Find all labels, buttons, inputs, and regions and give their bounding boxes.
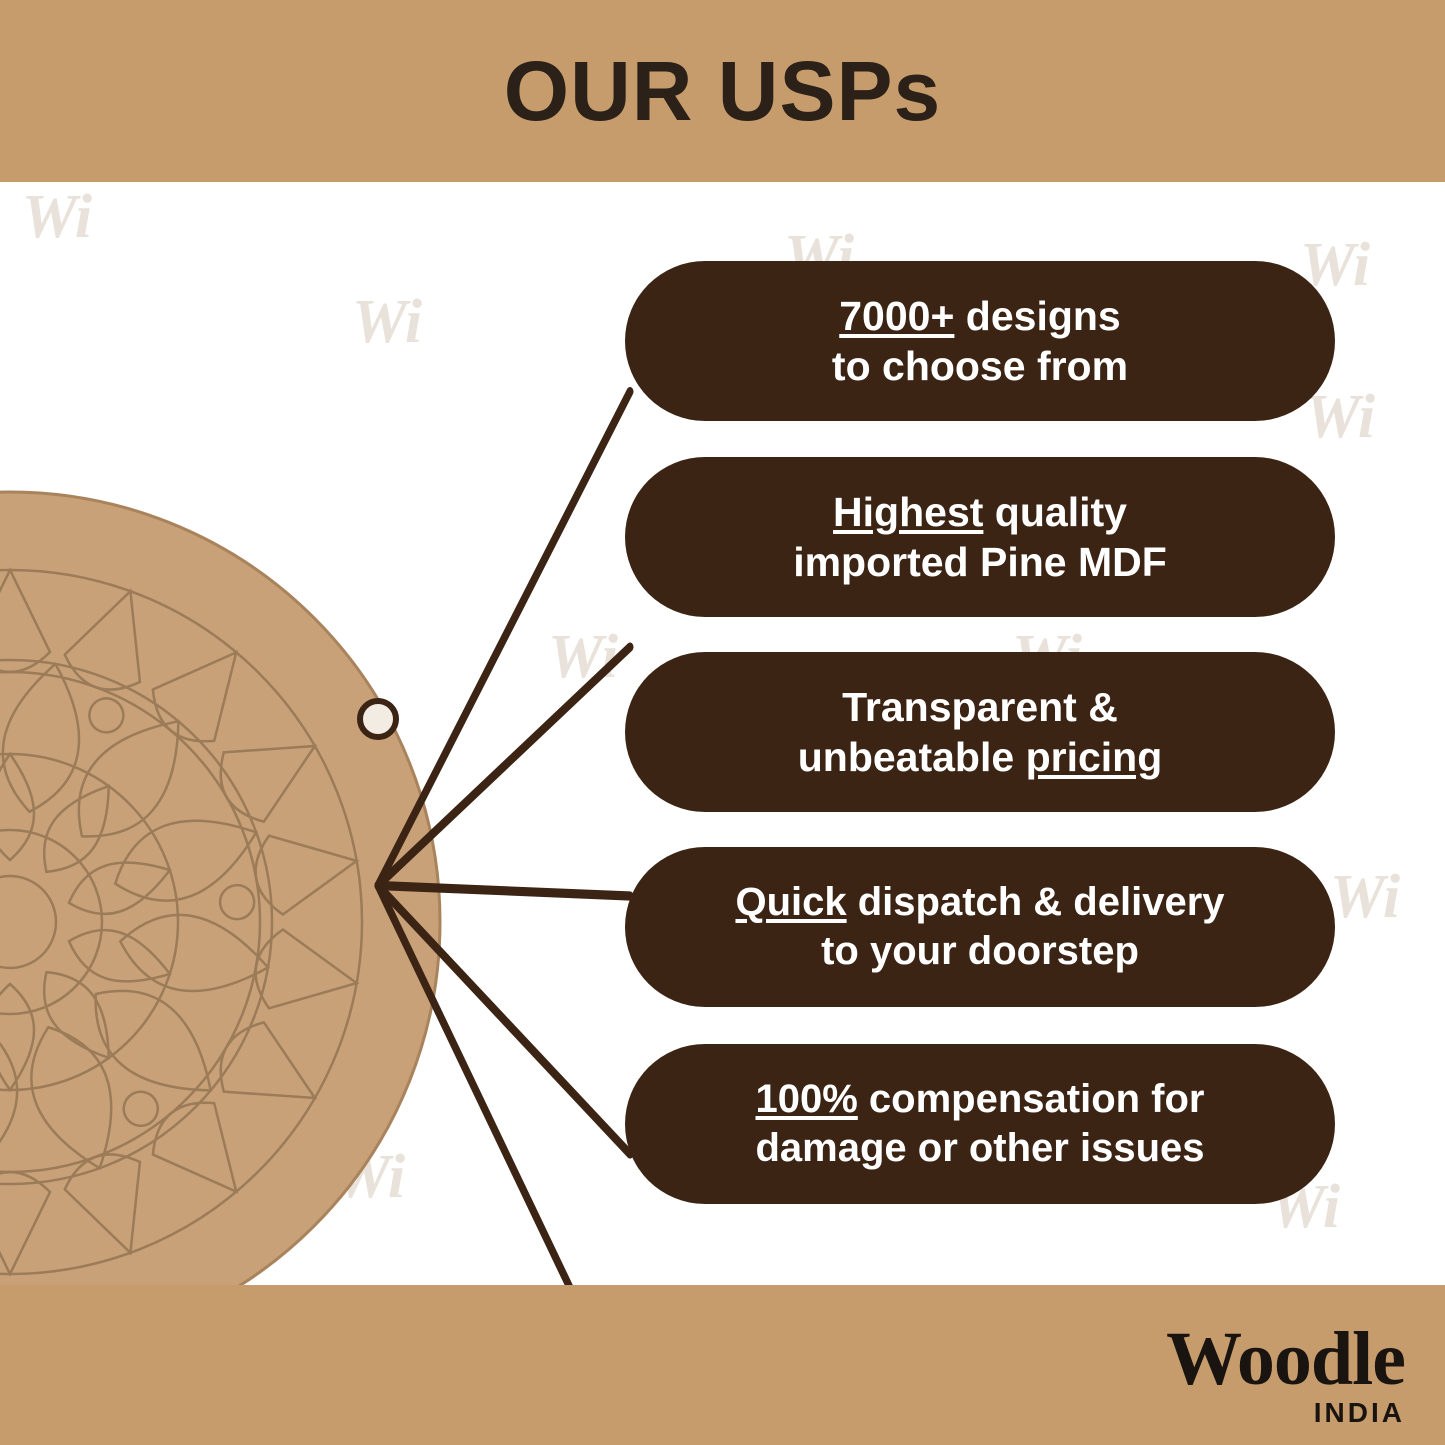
usp-pill-4-highlight: Quick: [735, 880, 846, 924]
usp-pill-5-rest: compensation for: [858, 1077, 1205, 1121]
usp-pill-1[interactable]: 7000+ designs to choose from: [625, 261, 1335, 421]
watermark-tile: Wi: [548, 622, 618, 693]
usp-pill-4-line2: to your doorstep: [821, 927, 1139, 976]
top-banner: OUR USPs: [0, 0, 1445, 182]
watermark-tile: Wi: [335, 1142, 405, 1213]
watermark-tile: Wi: [22, 182, 92, 253]
usp-pill-4-line1: Quick dispatch & delivery: [735, 878, 1224, 927]
brand-name: Woodle: [1166, 1321, 1405, 1397]
hub-node: [357, 698, 399, 740]
infographic-page: OUR USPs Wi Wi Wi Wi Wi Wi Wi Wi Wi Wi: [0, 0, 1445, 1445]
usp-pill-3-line2: unbeatable pricing: [798, 732, 1163, 782]
usp-pill-1-rest: designs: [954, 293, 1120, 339]
usp-pill-3-highlight: pricing: [1026, 734, 1163, 780]
usp-pill-3[interactable]: Transparent & unbeatable pricing: [625, 652, 1335, 812]
usp-pill-2[interactable]: Highest quality imported Pine MDF: [625, 457, 1335, 617]
usp-pill-1-line1: 7000+ designs: [839, 291, 1120, 341]
usp-pill-2-line1: Highest quality: [833, 487, 1127, 537]
usp-pill-3-line1: Transparent &: [842, 682, 1118, 732]
bottom-banner: Woodle INDIA: [0, 1285, 1445, 1445]
usp-pill-4[interactable]: Quick dispatch & delivery to your doorst…: [625, 847, 1335, 1007]
usp-pill-1-highlight: 7000+: [839, 293, 954, 339]
page-title: OUR USPs: [0, 0, 1445, 182]
diagram-canvas: Wi Wi Wi Wi Wi Wi Wi Wi Wi Wi: [0, 182, 1445, 1285]
usp-pill-5-line2: damage or other issues: [755, 1124, 1204, 1173]
usp-pill-4-rest: dispatch & delivery: [847, 880, 1225, 924]
brand-subtitle: INDIA: [1166, 1399, 1405, 1427]
usp-pill-5[interactable]: 100% compensation for damage or other is…: [625, 1044, 1335, 1204]
usp-pill-2-line2: imported Pine MDF: [793, 537, 1167, 587]
usp-pill-5-line1: 100% compensation for: [755, 1075, 1204, 1124]
usp-pill-3-rest: unbeatable: [798, 734, 1026, 780]
watermark-tile: Wi: [352, 287, 422, 358]
watermark-tile: Wi: [1330, 862, 1400, 933]
product-image-mandala-base: [0, 482, 450, 1285]
brand-logo: Woodle INDIA: [1166, 1321, 1405, 1427]
usp-pill-1-line2: to choose from: [832, 341, 1128, 391]
usp-pill-2-rest: quality: [983, 489, 1127, 535]
usp-pill-2-highlight: Highest: [833, 489, 983, 535]
usp-pill-5-highlight: 100%: [755, 1077, 857, 1121]
